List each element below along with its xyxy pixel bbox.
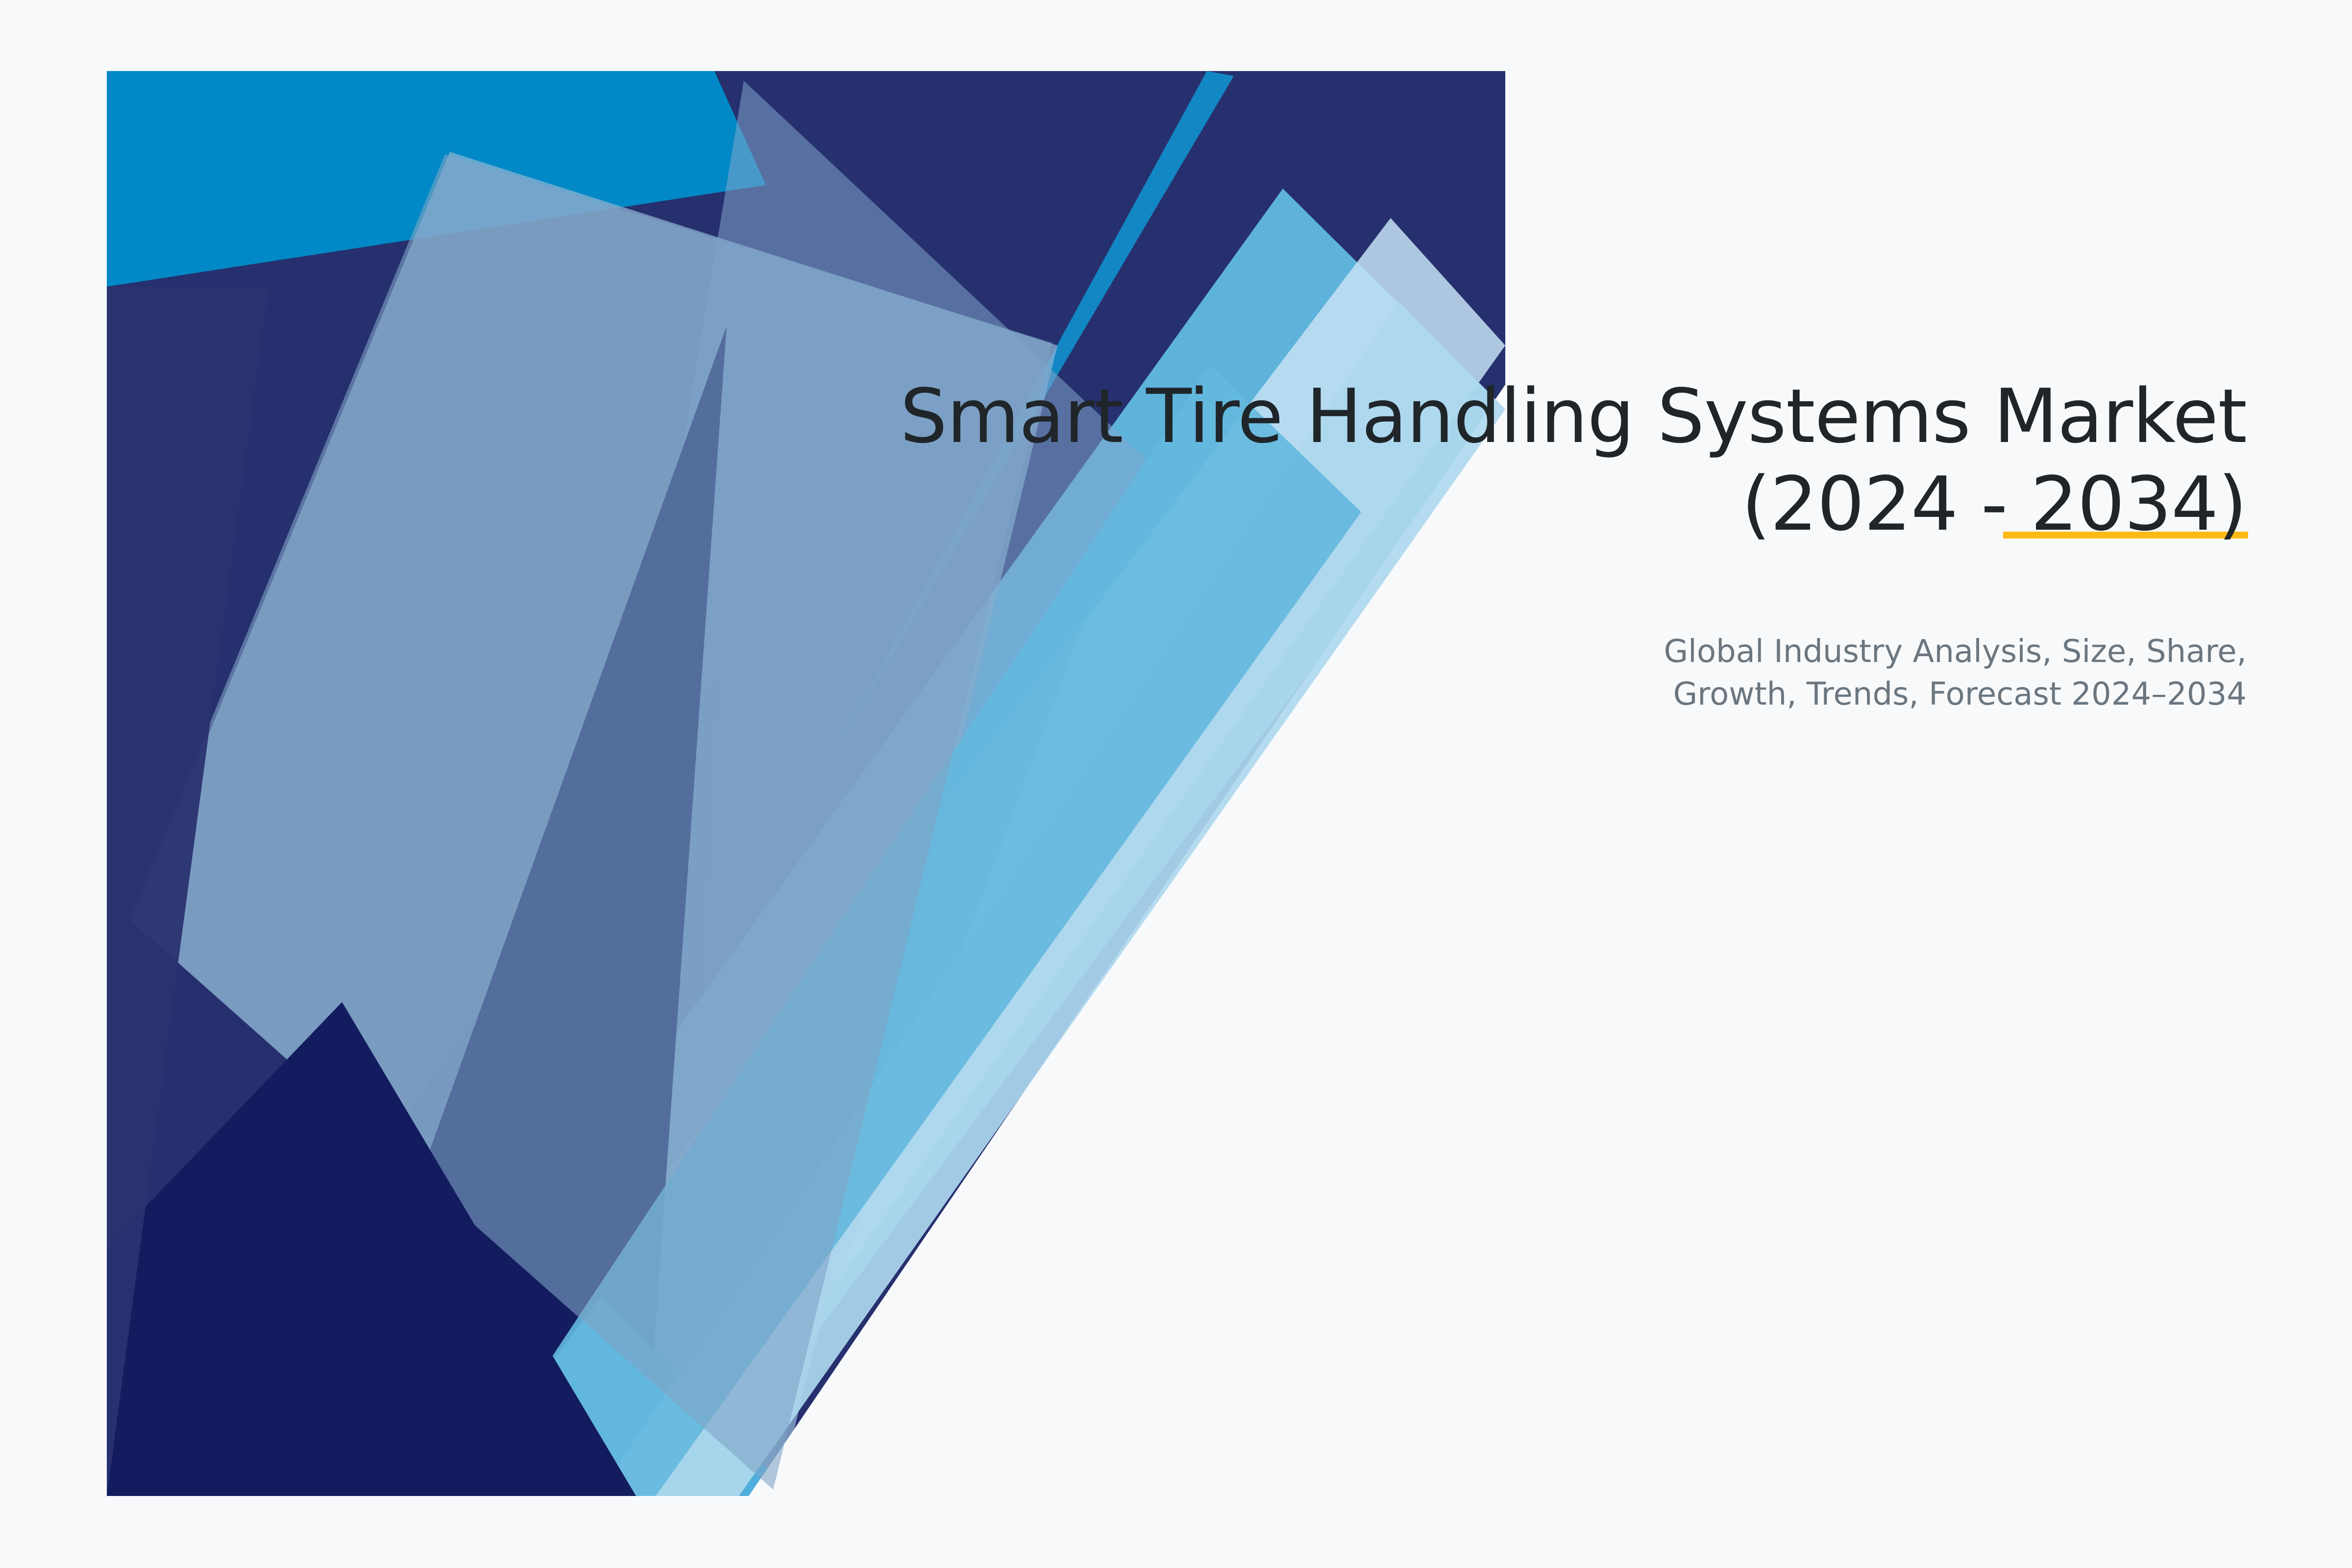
- cover-text-block: Smart Tire Handling Systems Market(2024 …: [784, 372, 2247, 716]
- title-wrapper: Smart Tire Handling Systems Market(2024 …: [784, 372, 2247, 548]
- report-title-line-2: (2024 - 2034): [1741, 461, 2247, 547]
- report-title-line-1: Smart Tire Handling Systems Market: [900, 373, 2247, 460]
- report-subtitle: Global Industry Analysis, Size, Share, G…: [1600, 631, 2247, 716]
- report-cover-page: Smart Tire Handling Systems Market(2024 …: [0, 0, 2352, 1568]
- page-title: Smart Tire Handling Systems Market(2024 …: [784, 372, 2247, 548]
- geometric-artwork-svg: [107, 71, 1505, 1496]
- cover-artwork-panel: [107, 71, 1505, 1496]
